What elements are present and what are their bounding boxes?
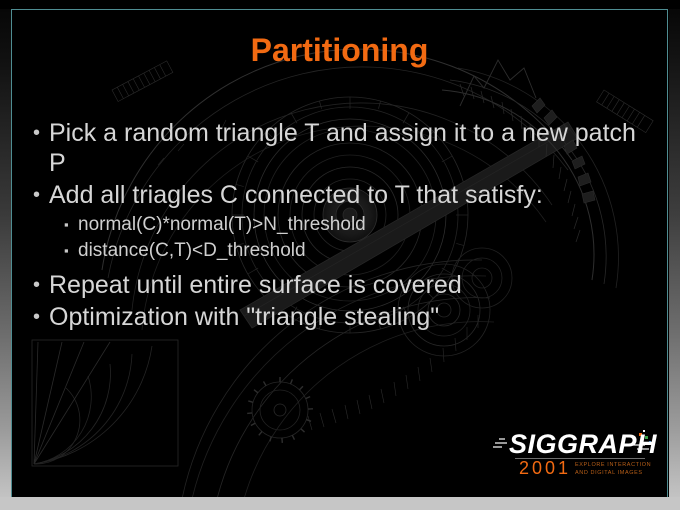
- slide-canvas: Partitioning • Pick a random triangle T …: [11, 9, 668, 498]
- siggraph-logo: SIGGRAPH 2001 EXPLORE INTERACTION AND DI…: [493, 429, 653, 481]
- siggraph-wordmark: SIGGRAPH: [509, 429, 657, 460]
- siggraph-year: 2001: [519, 458, 571, 479]
- window-right-edge: [669, 0, 680, 510]
- slide-body: • Pick a random triangle T and assign it…: [33, 118, 653, 334]
- sub-bullet-item: ▪ normal(C)*normal(T)>N_threshold: [64, 212, 653, 238]
- sub-bullet-text: distance(C,T)<D_threshold: [77, 238, 653, 263]
- slide-title: Partitioning: [12, 32, 667, 69]
- siggraph-tagline-line1: EXPLORE INTERACTION: [575, 462, 651, 470]
- bullet-text: Repeat until entire surface is covered: [48, 270, 653, 300]
- bullet-marker-icon: •: [33, 180, 48, 210]
- bullet-marker-icon: •: [33, 270, 48, 300]
- presentation-window: Partitioning • Pick a random triangle T …: [0, 0, 680, 510]
- sub-bullet-item: ▪ distance(C,T)<D_threshold: [64, 238, 653, 264]
- siggraph-tagline-line2: AND DIGITAL IMAGES: [575, 470, 651, 478]
- bullet-item: • Optimization with "triangle stealing": [33, 302, 653, 332]
- bullet-item: • Pick a random triangle T and assign it…: [33, 118, 653, 178]
- bullet-item: • Repeat until entire surface is covered: [33, 270, 653, 300]
- sub-bullet-marker-icon: ▪: [64, 238, 77, 264]
- sub-bullet-text: normal(C)*normal(T)>N_threshold: [77, 212, 653, 237]
- window-left-edge: [0, 0, 11, 510]
- bullet-text: Pick a random triangle T and assign it t…: [48, 118, 653, 178]
- sub-bullet-marker-icon: ▪: [64, 212, 77, 238]
- siggraph-tagline: EXPLORE INTERACTION AND DIGITAL IMAGES: [575, 462, 651, 477]
- window-bottom-bar: [0, 497, 680, 510]
- window-top-edge: [0, 0, 680, 9]
- bullet-item: • Add all triagles C connected to T that…: [33, 180, 653, 210]
- bullet-text: Optimization with "triangle stealing": [48, 302, 653, 332]
- bullet-marker-icon: •: [33, 302, 48, 332]
- bullet-marker-icon: •: [33, 118, 48, 148]
- bullet-text: Add all triagles C connected to T that s…: [48, 180, 653, 210]
